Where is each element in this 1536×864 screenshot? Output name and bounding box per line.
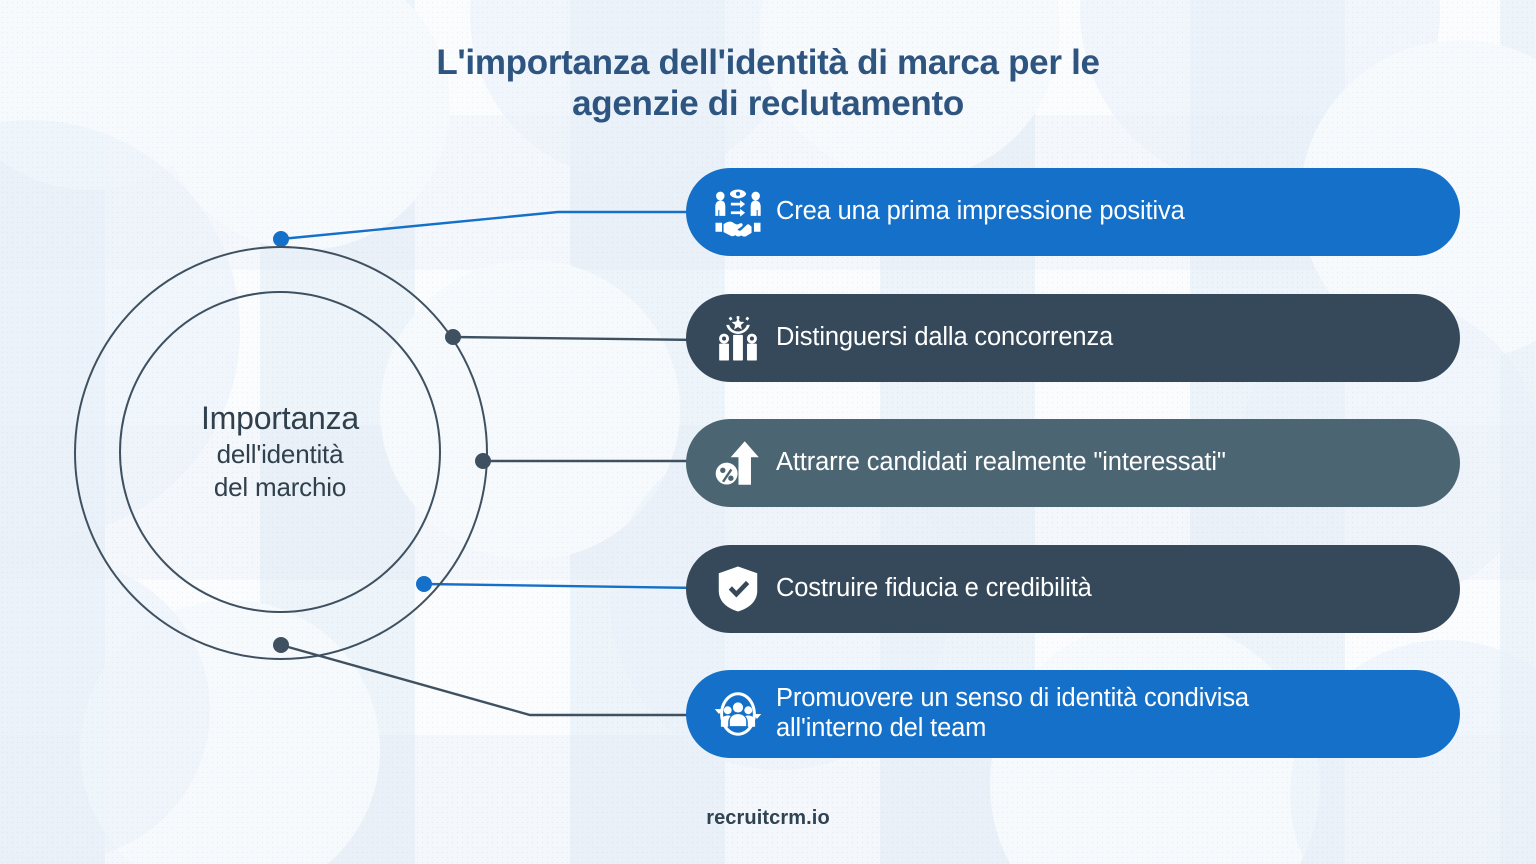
- handshake-perception-icon: [712, 186, 764, 238]
- benefit-pill-3[interactable]: Attrarre candidati realmente "interessat…: [686, 419, 1460, 507]
- benefit-pill-2[interactable]: Distinguersi dalla concorrenza: [686, 294, 1460, 382]
- shield-check-icon: [712, 563, 764, 615]
- benefit-pill-4[interactable]: Costruire fiducia e credibilità: [686, 545, 1460, 633]
- center-label-line-1: Importanza: [201, 400, 359, 438]
- connector-path-2: [453, 337, 700, 340]
- benefit-pill-3-label: Attrarre candidati realmente "interessat…: [776, 448, 1226, 478]
- benefit-pill-1[interactable]: Crea una prima impressione positiva: [686, 168, 1460, 256]
- infographic-canvas: L'importanza dell'identità di marca per …: [0, 0, 1536, 864]
- benefit-pill-5[interactable]: Promuovere un senso di identità condivis…: [686, 670, 1460, 758]
- center-label-line-3: del marchio: [214, 471, 346, 504]
- center-label-line-2: dell'identità: [217, 438, 344, 471]
- center-circle-inner-ring: Importanza dell'identità del marchio: [119, 291, 441, 613]
- team-cycle-icon: [712, 688, 764, 740]
- benefit-pill-4-label: Costruire fiducia e credibilità: [776, 574, 1092, 604]
- connector-path-1: [281, 212, 700, 239]
- podium-star-icon: [712, 312, 764, 364]
- benefit-pill-2-label: Distinguersi dalla concorrenza: [776, 323, 1113, 353]
- connector-dot-1: [273, 231, 289, 247]
- benefit-pill-5-label: Promuovere un senso di identità condivis…: [776, 684, 1249, 743]
- center-circle: Importanza dell'identità del marchio: [74, 246, 488, 660]
- footer-brand: recruitcrm.io: [0, 807, 1536, 830]
- arrow-up-percent-icon: [712, 437, 764, 489]
- benefit-pill-1-label: Crea una prima impressione positiva: [776, 197, 1185, 227]
